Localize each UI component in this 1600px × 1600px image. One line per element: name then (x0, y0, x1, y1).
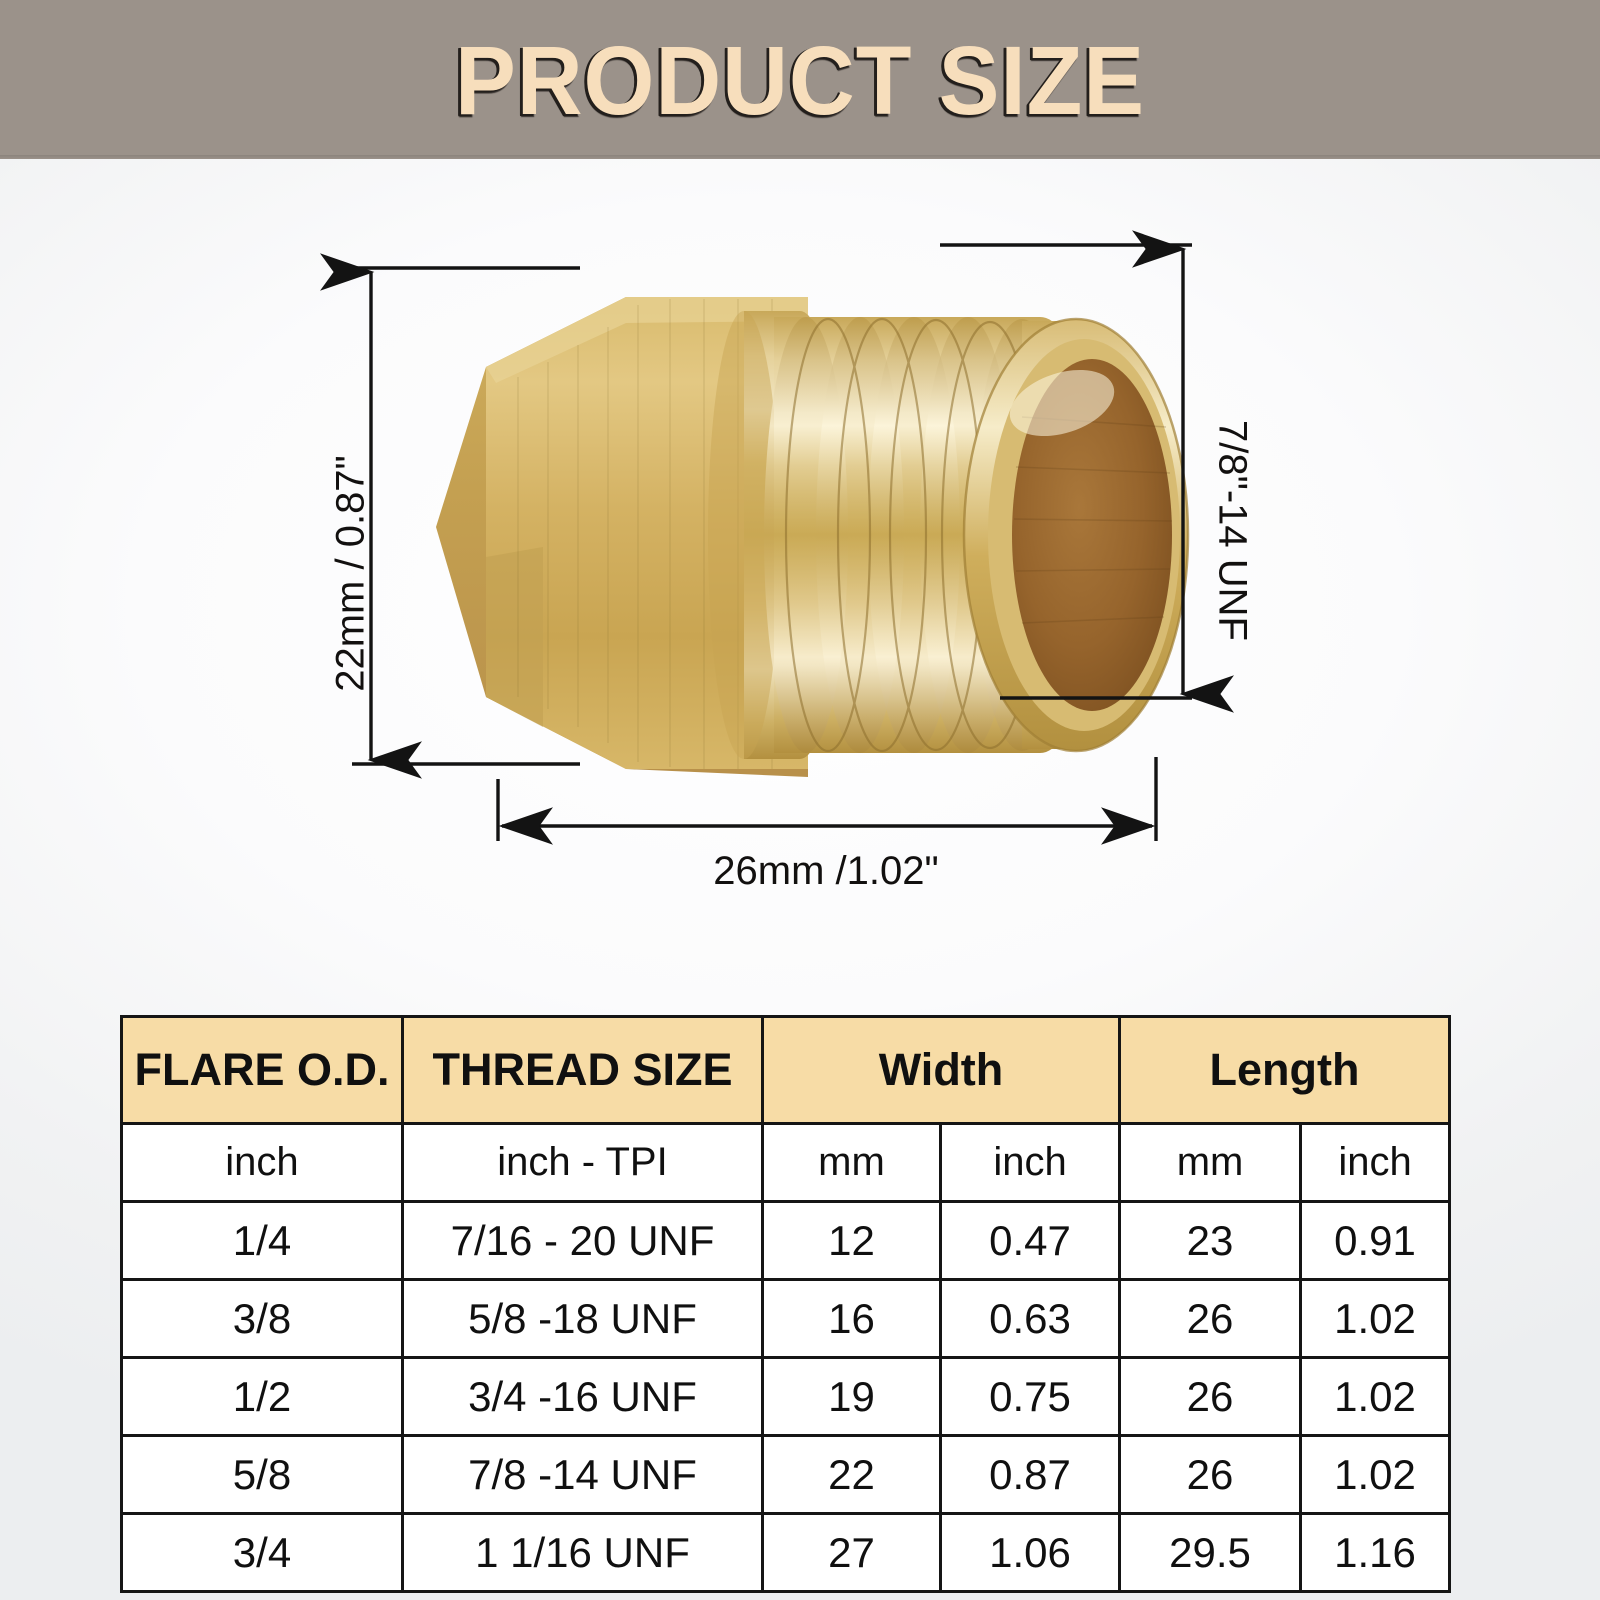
table-row: 1/2 3/4 -16 UNF 19 0.75 26 1.02 (122, 1358, 1450, 1436)
table-row: 1/4 7/16 - 20 UNF 12 0.47 23 0.91 (122, 1202, 1450, 1280)
thread-dimension-label: 7/8"-14 UNF (1210, 366, 1255, 696)
cell-thread-size: 3/4 -16 UNF (403, 1358, 763, 1436)
table-row: 3/8 5/8 -18 UNF 16 0.63 26 1.02 (122, 1280, 1450, 1358)
product-size-infographic: PRODUCT SIZE (0, 0, 1600, 1600)
cell-length-inch: 1.16 (1301, 1514, 1450, 1592)
unit-width-inch: inch (941, 1124, 1120, 1202)
table-units-row: inch inch - TPI mm inch mm inch (122, 1124, 1450, 1202)
cell-thread-size: 7/8 -14 UNF (403, 1436, 763, 1514)
cell-length-inch: 0.91 (1301, 1202, 1450, 1280)
table-row: 5/8 7/8 -14 UNF 22 0.87 26 1.02 (122, 1436, 1450, 1514)
table-head: FLARE O.D. THREAD SIZE Width Length (122, 1017, 1450, 1124)
unit-length-inch: inch (1301, 1124, 1450, 1202)
unit-width-mm: mm (763, 1124, 941, 1202)
cell-length-mm: 26 (1120, 1436, 1301, 1514)
cell-flare-od: 3/4 (122, 1514, 403, 1592)
page-title: PRODUCT SIZE (48, 29, 1552, 133)
table-body: inch inch - TPI mm inch mm inch 1/4 7/16… (122, 1124, 1450, 1592)
cell-length-mm: 26 (1120, 1280, 1301, 1358)
cell-width-inch: 0.75 (941, 1358, 1120, 1436)
cell-width-mm: 12 (763, 1202, 941, 1280)
column-header-thread-size: THREAD SIZE (403, 1017, 763, 1124)
cell-length-mm: 26 (1120, 1358, 1301, 1436)
cell-flare-od: 5/8 (122, 1436, 403, 1514)
length-dimension-label: 26mm /1.02" (546, 849, 1106, 894)
cell-length-inch: 1.02 (1301, 1436, 1450, 1514)
column-header-length: Length (1120, 1017, 1450, 1124)
cell-width-mm: 22 (763, 1436, 941, 1514)
cell-flare-od: 1/2 (122, 1358, 403, 1436)
product-image-section: 22mm / 0.87" 7/8"-14 UNF 26mm /1.02" (0, 159, 1600, 999)
cell-thread-size: 7/16 - 20 UNF (403, 1202, 763, 1280)
cell-thread-size: 5/8 -18 UNF (403, 1280, 763, 1358)
product-photo (408, 257, 1208, 817)
cell-width-mm: 16 (763, 1280, 941, 1358)
width-dimension-label: 22mm / 0.87" (329, 404, 374, 744)
table-row: 3/4 1 1/16 UNF 27 1.06 29.5 1.16 (122, 1514, 1450, 1592)
cell-width-inch: 0.87 (941, 1436, 1120, 1514)
cell-width-inch: 1.06 (941, 1514, 1120, 1592)
table-group-header-row: FLARE O.D. THREAD SIZE Width Length (122, 1017, 1450, 1124)
product-size-table: FLARE O.D. THREAD SIZE Width Length inch… (120, 1015, 1451, 1593)
cell-flare-od: 1/4 (122, 1202, 403, 1280)
cell-length-inch: 1.02 (1301, 1280, 1450, 1358)
cell-width-inch: 0.47 (941, 1202, 1120, 1280)
cell-length-mm: 29.5 (1120, 1514, 1301, 1592)
cell-thread-size: 1 1/16 UNF (403, 1514, 763, 1592)
cell-length-inch: 1.02 (1301, 1358, 1450, 1436)
unit-flare-od: inch (122, 1124, 403, 1202)
cell-width-mm: 27 (763, 1514, 941, 1592)
header-banner: PRODUCT SIZE (0, 0, 1600, 159)
cell-flare-od: 3/8 (122, 1280, 403, 1358)
cell-width-mm: 19 (763, 1358, 941, 1436)
spec-table-container: FLARE O.D. THREAD SIZE Width Length inch… (120, 1015, 1448, 1593)
cell-length-mm: 23 (1120, 1202, 1301, 1280)
column-header-flare-od: FLARE O.D. (122, 1017, 403, 1124)
cell-width-inch: 0.63 (941, 1280, 1120, 1358)
unit-length-mm: mm (1120, 1124, 1301, 1202)
unit-thread-size: inch - TPI (403, 1124, 763, 1202)
column-header-width: Width (763, 1017, 1120, 1124)
